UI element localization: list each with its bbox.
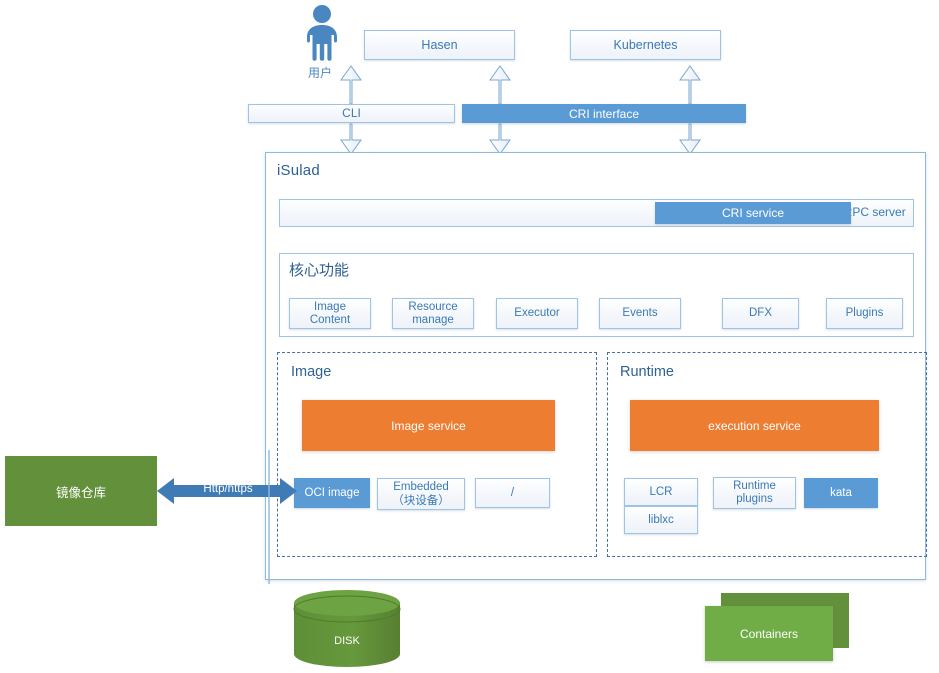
interface-label: CLI (342, 107, 361, 120)
core-functions-panel (279, 253, 914, 337)
core-module-events[interactable]: Events (599, 298, 681, 329)
image-item-label: / (511, 487, 514, 500)
isulad-title: iSulad (277, 162, 320, 179)
interface-bar-cri[interactable]: CRI interface (462, 104, 746, 123)
http-link-label: Http/https (186, 483, 270, 495)
runtime-item-label-line1: Runtime (733, 480, 776, 493)
cri-service-box[interactable]: CRI service (655, 202, 851, 224)
disk-label: DISK (294, 635, 400, 647)
core-module-dfx[interactable]: DFX (722, 298, 799, 329)
core-module-label-line1: DFX (749, 307, 772, 320)
interface-label: CRI interface (569, 107, 639, 121)
runtime-item-label: kata (830, 487, 852, 499)
runtime-panel-title: Runtime (620, 364, 674, 380)
arrow-down-cri-b (680, 124, 700, 154)
image-registry-box[interactable]: 镜像仓库 (5, 456, 157, 526)
cri-service-label: CRI service (722, 206, 784, 220)
core-module-label-line2: Content (310, 314, 350, 327)
runtime-item-kata[interactable]: kata (804, 478, 878, 508)
core-module-resource-manage[interactable]: Resource manage (392, 298, 474, 329)
arrow-up-hasen (490, 66, 510, 104)
image-item-embedded[interactable]: Embedded （块设备） (377, 478, 465, 510)
registry-connector-line (260, 450, 280, 585)
runtime-item-label-line2: plugins (736, 493, 772, 506)
image-item-label: OCI image (305, 487, 360, 499)
image-item-oci-image[interactable]: OCI image (294, 478, 370, 508)
image-service-band[interactable]: Image service (302, 400, 555, 451)
execution-service-label: execution service (708, 419, 801, 433)
image-panel-title: Image (291, 364, 331, 380)
diagram-canvas: 用户 Hasen Kubernetes CLI CRI in (0, 0, 939, 673)
core-functions-title: 核心功能 (289, 259, 349, 280)
image-item-slash[interactable]: / (475, 478, 550, 508)
core-module-label-line1: Executor (514, 307, 559, 320)
runtime-item-label: LCR (649, 486, 672, 499)
arrow-up-user (341, 66, 361, 104)
containers-box-front[interactable]: Containers (705, 606, 833, 661)
arrow-up-kubernetes (680, 66, 700, 104)
core-module-executor[interactable]: Executor (496, 298, 578, 329)
image-service-label: Image service (391, 419, 466, 433)
core-module-label-line1: Events (622, 307, 657, 320)
core-module-plugins[interactable]: Plugins (826, 298, 903, 329)
runtime-item-liblxc[interactable]: liblxc (624, 506, 698, 534)
arrow-down-cli (341, 124, 361, 154)
image-panel (277, 352, 597, 557)
core-module-label-line1: Plugins (846, 307, 884, 320)
top-arrows-group (0, 0, 939, 160)
core-module-image-content[interactable]: Image Content (289, 298, 371, 329)
core-module-label-line1: Resource (408, 301, 457, 314)
runtime-item-runtime-plugins[interactable]: Runtime plugins (713, 477, 796, 509)
core-module-label-line2: manage (412, 314, 454, 327)
image-registry-label: 镜像仓库 (56, 482, 106, 501)
execution-service-band[interactable]: execution service (630, 400, 879, 451)
core-module-label-line1: Image (314, 301, 346, 314)
runtime-item-lcr[interactable]: LCR (624, 478, 698, 506)
containers-label: Containers (740, 627, 798, 641)
runtime-item-label: liblxc (648, 514, 674, 527)
disk-cylinder[interactable] (294, 590, 400, 668)
interface-bar-cli[interactable]: CLI (248, 104, 455, 123)
arrow-down-cri-a (490, 124, 510, 154)
image-item-label-line2: （块设备） (392, 494, 450, 507)
